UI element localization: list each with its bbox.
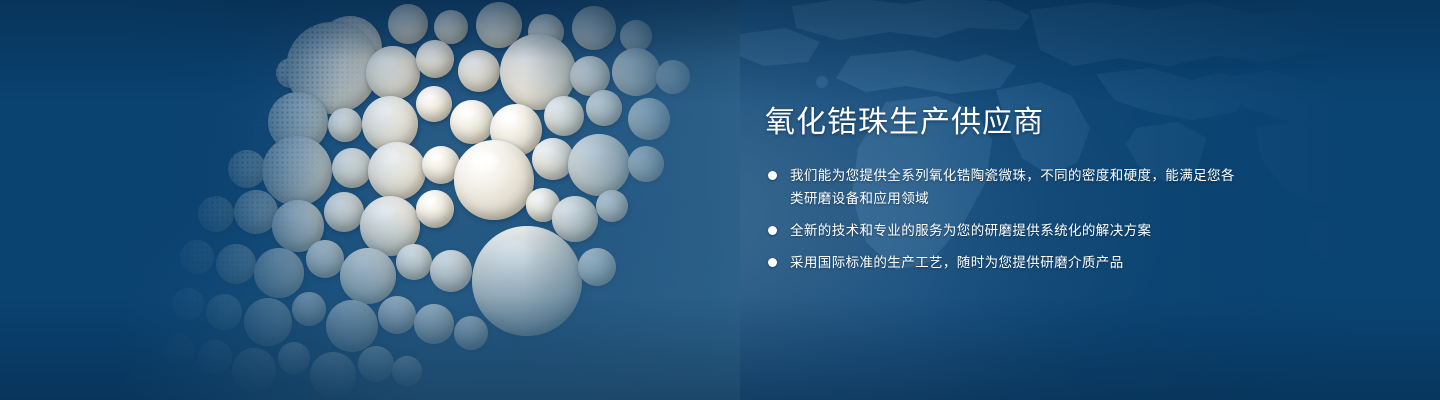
list-item-label: 采用国际标准的生产工艺，随时为您提供研磨介质产品 <box>790 251 1235 274</box>
page-title: 氧化锆珠生产供应商 <box>765 104 1235 142</box>
list-item-label: 我们能为您提供全系列氧化锆陶瓷微珠，不同的密度和硬度，能满足您各类研磨设备和应用… <box>790 164 1235 210</box>
bullet-dot-icon <box>768 258 777 267</box>
bullet-dot-icon <box>768 171 777 180</box>
list-item: 我们能为您提供全系列氧化锆陶瓷微珠，不同的密度和硬度，能满足您各类研磨设备和应用… <box>765 164 1235 210</box>
feature-list: 我们能为您提供全系列氧化锆陶瓷微珠，不同的密度和硬度，能满足您各类研磨设备和应用… <box>765 164 1235 274</box>
list-item: 全新的技术和专业的服务为您的研磨提供系统化的解决方案 <box>765 219 1235 242</box>
list-item-label: 全新的技术和专业的服务为您的研磨提供系统化的解决方案 <box>790 219 1235 242</box>
list-item: 采用国际标准的生产工艺，随时为您提供研磨介质产品 <box>765 251 1235 274</box>
banner-content: 氧化锆珠生产供应商 我们能为您提供全系列氧化锆陶瓷微珠，不同的密度和硬度，能满足… <box>765 104 1235 274</box>
bullet-dot-icon <box>768 226 777 235</box>
hero-banner: 氧化锆珠生产供应商 我们能为您提供全系列氧化锆陶瓷微珠，不同的密度和硬度，能满足… <box>0 0 1440 400</box>
